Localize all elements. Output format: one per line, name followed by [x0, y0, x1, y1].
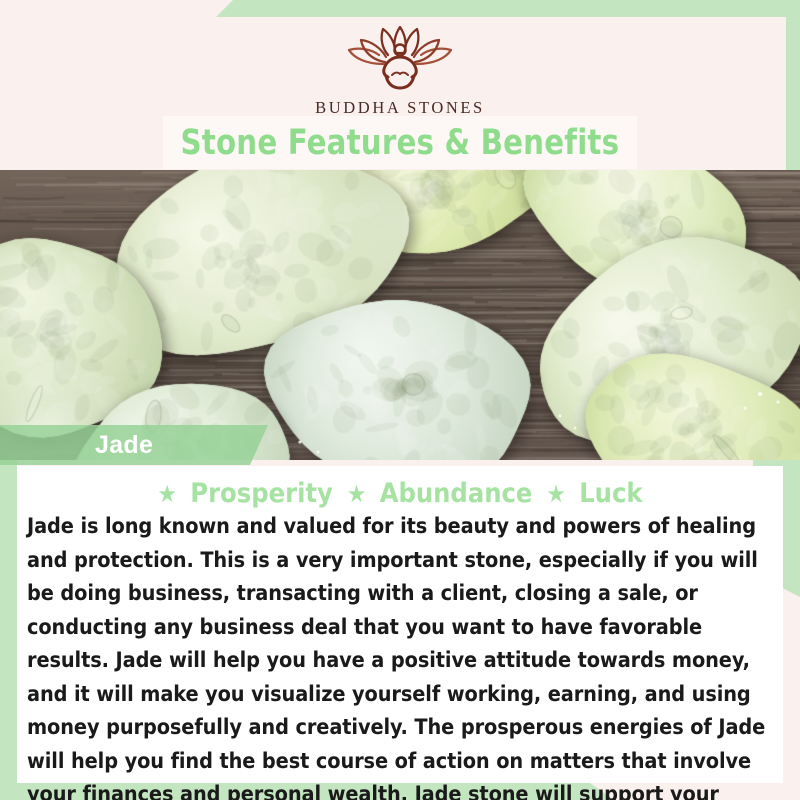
stone-photo [0, 170, 800, 460]
stone-name-banner: Jade [0, 425, 268, 465]
star-icon: ★ [157, 480, 176, 508]
stone-photo-canvas [0, 170, 800, 460]
star-icon: ★ [546, 480, 565, 508]
keyword-list: ★ Prosperity★ Abundance★ Luck [17, 478, 783, 509]
content-panel: ★ Prosperity★ Abundance★ Luck Jade is lo… [17, 466, 783, 783]
brand-logo: BUDDHA STONES [280, 22, 520, 118]
stone-benefits-infographic: BUDDHA STONES Stone Features & Benefits … [0, 0, 800, 800]
description-text: Jade is long known and valued for its be… [17, 510, 783, 800]
keyword-abundance: Abundance [371, 478, 532, 509]
title-band: Stone Features & Benefits [163, 116, 637, 169]
lotus-meditation-icon [336, 22, 464, 92]
keyword-luck: Luck [571, 478, 643, 509]
keyword-prosperity: Prosperity [182, 478, 333, 509]
stone-name-label: Jade [0, 431, 153, 460]
star-icon: ★ [347, 480, 366, 508]
brand-name: BUDDHA STONES [280, 98, 520, 118]
page-title: Stone Features & Benefits [181, 123, 620, 163]
